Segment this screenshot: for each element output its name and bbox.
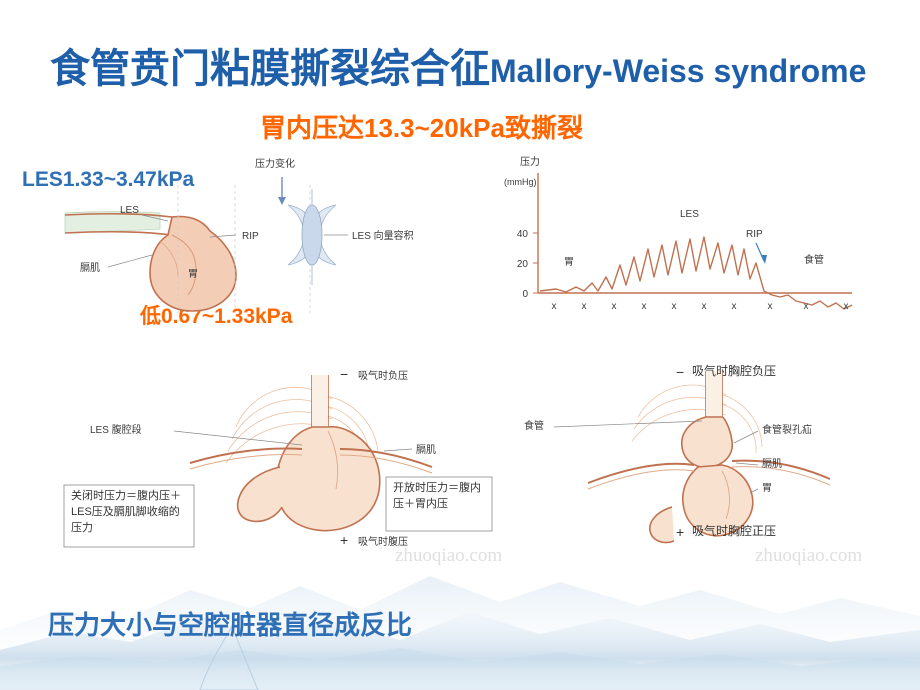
label-diaphragm-bl: 膈肌 [416,444,436,456]
label-inspiration-negative: 吸气时负压 [358,369,408,382]
label-thoracic-positive: 吸气时胸腔正压 [692,523,804,540]
chart-ytick-20: 20 [517,259,529,270]
diagram-les-pressure: 压力变化 LES RIP 膈肌 胃 LES 向量容积 [60,145,460,335]
label-thoracic-negative: 吸气时胸腔负压 [692,363,804,380]
chart-label-stomach: 胃 [564,256,574,268]
sign-positive-br: + [676,524,684,540]
chart-esophageal-manometry: 压力 (mmHg) 40 20 0 x x x x x x x x x x [480,145,900,335]
chart-xmark: x [844,301,849,312]
label-stomach-br: 胃 [762,482,772,494]
chart-xmark: x [582,301,587,312]
label-stomach: 胃 [188,268,198,280]
label-pressure-change: 压力变化 [255,157,295,170]
page-title: 食管贲门粘膜撕裂综合征Mallory-Weiss syndrome [50,36,880,94]
chart-xmark: x [804,301,809,312]
label-hiatal-hernia: 食管裂孔疝 [762,423,812,436]
label-diaphragm: 膈肌 [80,262,100,274]
sign-negative-br: − [676,364,684,380]
title-english: Mallory-Weiss syndrome [490,53,866,89]
label-les: LES [120,205,139,216]
label-les-abdominal: LES 腹腔段 [90,423,142,436]
box-open-pressure: 开放时压力＝腹内压＋胃内压 [390,479,490,515]
label-inspiration-abdominal: 吸气时腹压 [358,535,408,548]
sign-negative: − [340,366,348,382]
chart-xmark: x [672,301,677,312]
chart-xmark: x [612,301,617,312]
subtitle: 胃内压达13.3~20kPa致撕裂 [260,108,583,145]
chart-xmark: x [552,301,557,312]
chart-xmark: x [768,301,773,312]
chart-label-esophagus: 食管 [804,253,824,266]
chart-ytick-40: 40 [517,229,529,240]
chart-axis-title: 压力 [520,155,540,168]
chart-xmark: x [702,301,707,312]
chart-ytick-0: 0 [522,289,528,300]
bottom-statement: 压力大小与空腔脏器直径成反比 [48,605,412,642]
chart-xmark: x [732,301,737,312]
chart-label-les: LES [680,209,699,220]
box-closed-pressure: 关闭时压力＝腹内压＋LES压及膈肌脚收缩的压力 [68,487,192,539]
diagram-antireflux-barrier: − 吸气时负压 + 吸气时腹压 LES 腹腔段 膈肌 关闭时压力＝腹内压＋LES… [40,355,510,570]
label-diaphragm-br: 膈肌 [762,458,782,470]
chart-label-rip: RIP [746,229,763,240]
label-les-vector-volume: LES 向量容积 [352,229,414,242]
diagram-hiatal-hernia: − 吸气时胸腔负压 + 吸气时胸腔正压 食管 食管裂孔疝 膈肌 胃 [510,355,900,570]
slide: 食管贲门粘膜撕裂综合征Mallory-Weiss syndrome 胃内压达13… [0,0,920,690]
label-esophagus-br: 食管 [524,419,544,432]
chart-xmark: x [642,301,647,312]
title-chinese: 食管贲门粘膜撕裂综合征 [50,47,490,91]
sign-positive: + [340,532,348,548]
chart-axis-unit: (mmHg) [504,177,537,187]
label-rip: RIP [242,231,259,242]
